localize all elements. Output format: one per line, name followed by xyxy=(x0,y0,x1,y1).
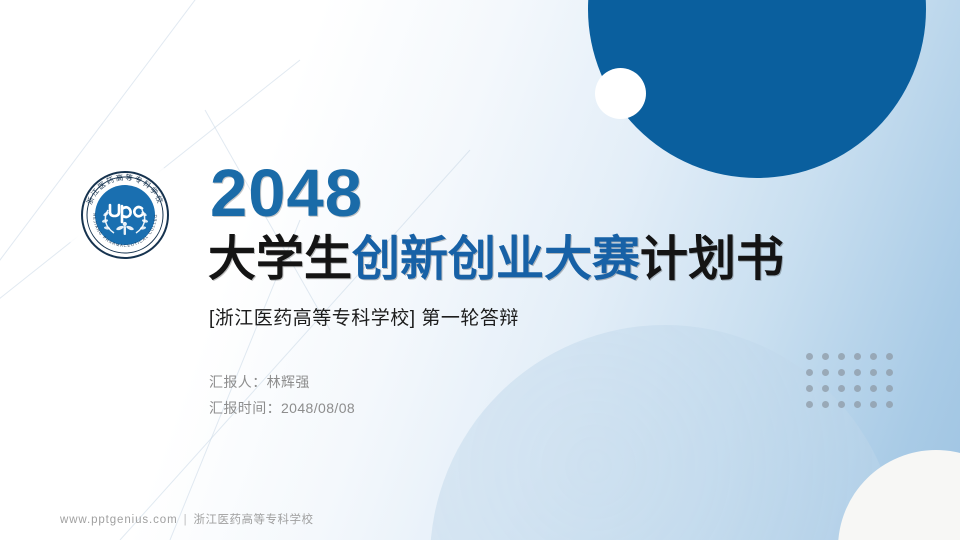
presenter-line: 汇报人：林辉强 xyxy=(209,370,355,396)
university-seal-icon: 浙江医药高等专科学校 ZHEJIANG PHARMACEUTICAL COLLE… xyxy=(72,162,178,268)
grid-dot xyxy=(822,369,829,376)
grid-dot xyxy=(822,385,829,392)
grid-dot xyxy=(838,401,845,408)
year-heading: 2048 xyxy=(210,160,363,227)
grid-dot xyxy=(806,401,813,408)
grid-dot xyxy=(822,401,829,408)
headline-highlight: 创新创业大赛 xyxy=(352,233,640,286)
grid-dot xyxy=(854,353,861,360)
presentation-slide: 浙江医药高等专科学校 ZHEJIANG PHARMACEUTICAL COLLE… xyxy=(0,0,960,540)
presentation-meta: 汇报人：林辉强 汇报时间：2048/08/08 xyxy=(209,370,355,422)
grid-dot xyxy=(822,353,829,360)
grid-dot xyxy=(806,369,813,376)
headline-suffix: 计划书 xyxy=(640,233,784,286)
slide-footer: www.pptgenius.com|浙江医药高等专科学校 xyxy=(60,511,313,527)
subtitle: [浙江医药高等专科学校] 第一轮答辩 xyxy=(209,303,519,330)
footer-organization: 浙江医药高等专科学校 xyxy=(193,514,313,526)
grid-dot xyxy=(838,385,845,392)
grid-dot xyxy=(806,385,813,392)
grid-dot xyxy=(886,385,893,392)
grid-dot xyxy=(854,401,861,408)
grid-dot xyxy=(806,353,813,360)
white-dot-decoration xyxy=(595,68,646,119)
headline-prefix: 大学生 xyxy=(208,233,352,286)
grid-dot xyxy=(854,369,861,376)
grid-dot xyxy=(870,369,877,376)
grid-dot xyxy=(854,385,861,392)
main-headline: 大学生创新创业大赛计划书 xyxy=(208,233,784,287)
grid-dot xyxy=(870,353,877,360)
grid-dot xyxy=(870,385,877,392)
footer-website: www.pptgenius.com xyxy=(60,514,178,526)
dot-grid-decoration xyxy=(806,353,902,417)
grid-dot xyxy=(838,353,845,360)
grid-dot xyxy=(838,369,845,376)
date-line: 汇报时间：2048/08/08 xyxy=(209,396,355,422)
university-logo: 浙江医药高等专科学校 ZHEJIANG PHARMACEUTICAL COLLE… xyxy=(72,162,178,268)
footer-separator: | xyxy=(184,514,188,526)
grid-dot xyxy=(886,353,893,360)
grid-dot xyxy=(886,401,893,408)
grid-dot xyxy=(870,401,877,408)
grid-dot xyxy=(886,369,893,376)
